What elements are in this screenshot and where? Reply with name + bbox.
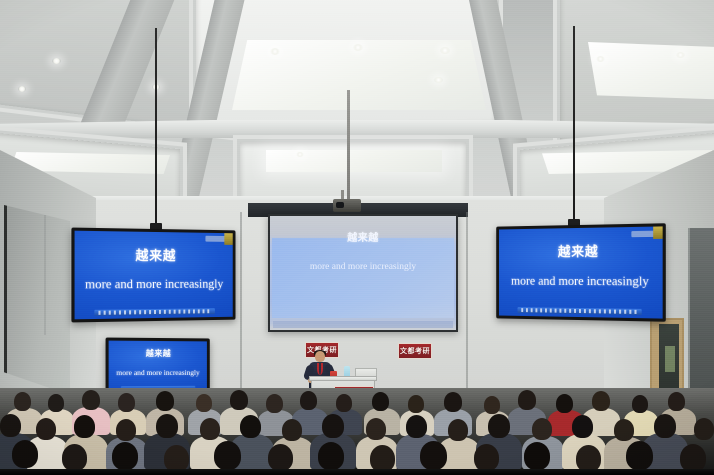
ceiling-light-panel-right (588, 42, 714, 100)
projected-slide (272, 238, 454, 318)
audience-head (230, 390, 248, 410)
audience-head (116, 419, 136, 441)
audience-head (318, 442, 344, 470)
audience-head (524, 442, 550, 470)
right-tv-screen: 越来越 more and more increasingly (499, 226, 663, 318)
ceiling-light-panel-lower-center (266, 150, 442, 172)
right-wall-tv[interactable]: 越来越 more and more increasingly (496, 223, 666, 322)
slide-chinese-title: 越来越 (499, 240, 663, 261)
audience-head (282, 419, 302, 441)
audience-head (266, 394, 283, 413)
audience-head (518, 390, 536, 410)
audience-head (156, 391, 174, 411)
slide-chinese-title: 越来越 (270, 229, 456, 244)
audience-head (214, 441, 241, 470)
downlight (296, 152, 304, 157)
audience-head (626, 441, 653, 470)
wall-seam (44, 215, 46, 335)
audience-head (420, 441, 447, 470)
audience-head (112, 442, 138, 470)
audience-head (36, 418, 56, 440)
left-tv-screen: 越来越 more and more increasingly (75, 231, 233, 320)
slide-taskbar[interactable] (273, 321, 453, 328)
ceiling-projector (333, 199, 361, 212)
audience-head (488, 414, 510, 438)
tv-hanging-rod-left (155, 28, 157, 228)
wall-seam (466, 212, 468, 407)
foreground-shadow (0, 469, 714, 475)
slide-english-line: more and more increasingly (75, 277, 233, 293)
projector-lens (336, 202, 344, 208)
downlight (18, 86, 26, 92)
downlight (676, 52, 685, 58)
downlight (596, 56, 605, 62)
screen-corner-marker (224, 233, 232, 245)
left-wall-tv[interactable]: 越来越 more and more increasingly (71, 228, 235, 323)
audience-head (694, 418, 714, 440)
wall-sign-right: 文都考研 (398, 343, 432, 359)
audience-head (196, 394, 212, 412)
lecture-hall-photo: 越来越 more and more increasingly 越来越 more … (0, 0, 714, 475)
audience-head (572, 415, 593, 438)
audience-head (164, 445, 189, 472)
right-wall-dark-panel (688, 228, 714, 388)
audience-head (14, 392, 31, 411)
audience-head (444, 392, 462, 412)
audience-head (336, 394, 352, 412)
audience-head (448, 419, 468, 441)
lower-left-tv-screen: 越来越 more and more increasingly (109, 341, 207, 394)
audience-head (474, 444, 499, 471)
audience-head (556, 394, 573, 413)
presenter-lanyard (317, 363, 323, 375)
audience-head (74, 415, 95, 438)
slide-english-line: more and more increasingly (109, 368, 207, 377)
slide-taskbar[interactable] (95, 308, 215, 316)
audience-head (118, 393, 135, 412)
audience-head (406, 415, 427, 438)
door-light (665, 346, 675, 372)
audience-head (680, 444, 706, 472)
ceiling-cornice (0, 120, 714, 138)
audience-head (200, 418, 220, 440)
slide-english-line: more and more increasingly (499, 274, 663, 290)
audience-head (82, 390, 100, 410)
audience-head (322, 414, 344, 438)
center-projection-screen[interactable]: 越来越 more and more increasingly (268, 214, 458, 332)
taskbar-items (521, 308, 637, 314)
audience-head (62, 444, 87, 471)
audience-head (268, 444, 293, 471)
audience-head (408, 395, 424, 413)
slide-chinese-title: 越来越 (75, 244, 233, 264)
downlight (270, 48, 280, 55)
left-wall-panel (4, 205, 70, 395)
audience-head (370, 445, 395, 472)
ceiling (0, 0, 714, 218)
projector-hanging-rod (347, 90, 350, 202)
slide-taskbar[interactable] (517, 307, 641, 315)
screen-corner-marker (653, 226, 662, 239)
slide-english-line: more and more increasingly (270, 262, 456, 272)
audience-head (372, 392, 389, 411)
audience-head (654, 414, 676, 438)
projection-surface: 越来越 more and more increasingly (270, 216, 456, 330)
audience-head (632, 395, 648, 413)
screen-badge (206, 236, 226, 242)
wall-seam (240, 212, 242, 407)
audience-head (532, 418, 552, 440)
audience-head (300, 391, 317, 410)
tv-hanging-rod-right (573, 26, 575, 224)
audience-head (156, 414, 178, 438)
audience-head (592, 391, 610, 411)
downlight (353, 44, 363, 51)
audience-head (576, 445, 601, 472)
audience-head (614, 419, 634, 441)
taskbar-items (99, 309, 211, 315)
downlight (434, 77, 443, 83)
audience-head (366, 418, 386, 440)
audience-head (668, 392, 685, 411)
presenter-head (315, 351, 325, 362)
audience-head (484, 396, 500, 414)
downlight (440, 47, 450, 54)
slide-chinese-title: 越来越 (109, 348, 207, 359)
audience-head (48, 394, 64, 412)
audience-head (240, 415, 261, 438)
audience-head (0, 414, 21, 437)
audience-head (12, 440, 38, 468)
audience-area (0, 388, 714, 475)
lectern-top (309, 376, 377, 381)
downlight (52, 58, 61, 64)
screen-badge (631, 230, 653, 237)
